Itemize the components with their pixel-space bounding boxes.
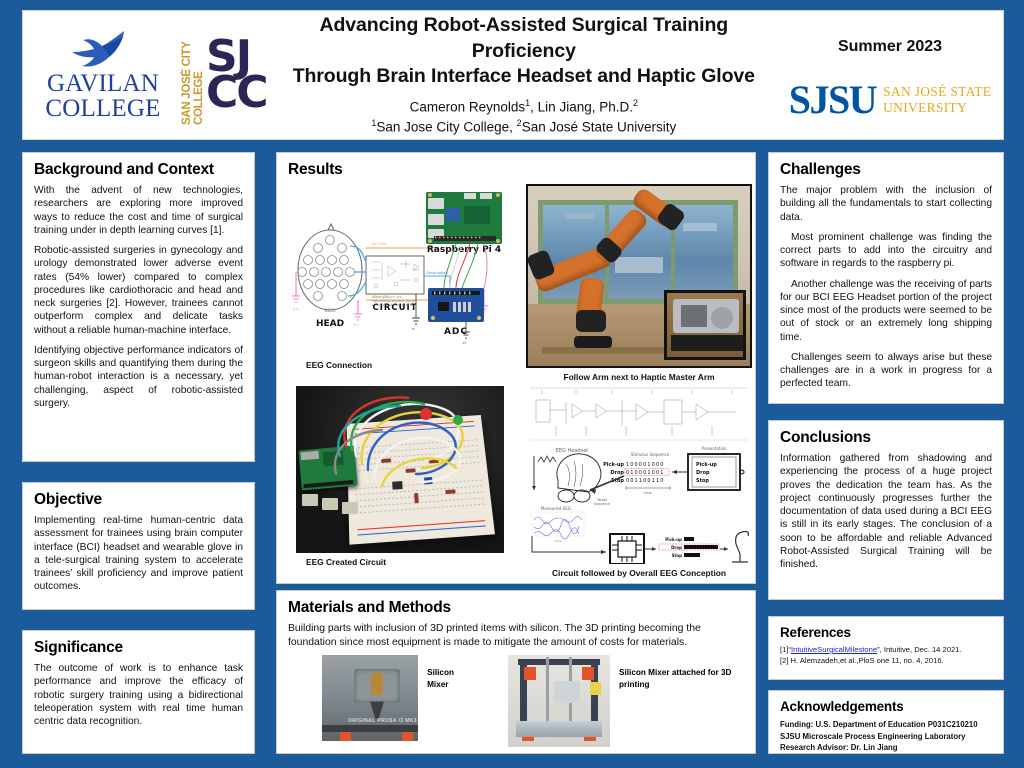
acknowledgement-line-3: Research Advisor: Dr. Lin Jiang [780, 742, 992, 754]
background-heading: Background and Context [34, 161, 243, 179]
sjsu-name-lines: SAN JOSÉ STATE UNIVERSITY [883, 84, 991, 115]
objective-paragraph-1: Implementing real-time human-centric dat… [34, 514, 243, 594]
svg-text:Raspberry Pi 4: Raspberry Pi 4 [427, 245, 501, 255]
silicon-mixer-photo: ORIGINAL PRUSA i3 MK3 [322, 655, 418, 741]
term-label: Summer 2023 [838, 38, 942, 56]
svg-text:amp powered from -5V to 5V: amp powered from -5V to 5V [372, 303, 414, 307]
sjsu-logo: SJSU SAN JOSÉ STATE UNIVERSITY [789, 80, 992, 120]
background-paragraph-2: Robotic-assisted surgeries in gynecology… [34, 244, 243, 337]
svg-text:Pi: Pi [412, 327, 415, 331]
challenges-heading: Challenges [780, 161, 992, 179]
materials-description: Building parts with inclusion of 3D prin… [288, 622, 744, 649]
svg-text:Drop: Drop [671, 545, 682, 550]
reference-item-2: [2] H. Alemzadeh,et al.,PloS one 11, no.… [780, 656, 992, 667]
challenges-panel: Challenges The major problem with the in… [768, 152, 1004, 404]
materials-and-methods-panel: Materials and Methods Building parts wit… [276, 590, 756, 754]
sjcc-vertical-text: SAN JOSÉ CITY COLLEGE [181, 25, 205, 125]
acknowledgement-line-1: Funding: U.S. Department of Education P0… [780, 719, 992, 731]
challenges-paragraph-1: The major problem with the inclusion of … [780, 184, 992, 224]
reference-item-1: [1]“IntuitiveSurgicalMilestone”, Intuiti… [780, 645, 992, 656]
figure-eeg-created-circuit: EEG Created Circuit [288, 386, 516, 578]
materials-figure-row: ORIGINAL PRUSA i3 MK3 Silicon Mixer [288, 655, 744, 747]
affil-text-1: San Jose City College, [376, 120, 516, 135]
significance-panel: Significance The outcome of work is to e… [22, 630, 255, 754]
svg-text:001100110: 001100110 [626, 478, 665, 484]
poster-canvas: GAVILAN COLLEGE SAN JOSÉ CITY COLLEGE SJ… [0, 0, 1024, 768]
figure-silicon-mixer-printer: Silicon Mixer attached for 3D printing [508, 655, 744, 747]
svg-text:NECK: NECK [325, 308, 336, 313]
conclusions-paragraph-1: Information gathered from shadowing and … [780, 452, 992, 571]
poster-title: Advancing Robot-Assisted Surgical Traini… [277, 13, 771, 90]
figure-caption-eeg-created-circuit: EEG Created Circuit [306, 557, 516, 567]
significance-heading: Significance [34, 639, 243, 657]
figure-follow-arm: Follow Arm next to Haptic Master Arm [526, 184, 752, 382]
silicon-mixer-3d-printer-photo [508, 655, 610, 747]
sjcc-monogram: SJ CC [206, 39, 267, 111]
sjsu-wordmark: SJSU [789, 80, 876, 120]
affil-text-2: San José State University [522, 120, 677, 135]
acknowledgement-line-2: SJSU Microscale Process Engineering Labo… [780, 731, 992, 743]
svg-text:Sequence: Sequence [594, 502, 610, 506]
results-heading: Results [288, 161, 744, 179]
reference-1-link[interactable]: IntuitiveSurgicalMilestone [791, 645, 877, 654]
reference-1-prefix: [1]“ [780, 645, 791, 654]
acknowledgements-panel: Acknowledgements Funding: U.S. Departmen… [768, 690, 1004, 754]
references-heading: References [780, 625, 992, 640]
svg-text:0 V: 0 V [354, 323, 360, 327]
figure-caption-silicon-mixer: Silicon Mixer [427, 655, 470, 689]
background-paragraph-3: Identifying objective performance indica… [34, 344, 243, 410]
figure-caption-eeg-connection: EEG Connection [306, 360, 516, 370]
overall-eeg-conception-diagram: EEG Headset Stimulus Sequence Pick-up 10… [526, 386, 752, 564]
header-right-block: Summer 2023 SJSU SAN JOSÉ STATE UNIVERSI… [777, 20, 1003, 130]
svg-text:Stop: Stop [696, 478, 709, 484]
label-drop: Drop [610, 470, 624, 476]
figure-caption-silicon-mixer-printer: Silicon Mixer attached for 3D printing [619, 655, 744, 689]
gavilan-word-1: GAVILAN [47, 71, 159, 96]
conclusions-heading: Conclusions [780, 429, 992, 447]
results-panel: Results NECK HEAD [276, 152, 756, 584]
materials-heading: Materials and Methods [288, 599, 744, 617]
svg-text:010001001: 010001001 [626, 470, 665, 476]
background-and-context-panel: Background and Context With the advent o… [22, 152, 255, 462]
references-panel: References [1]“IntuitiveSurgicalMileston… [768, 616, 1004, 680]
svg-text:Pi: Pi [463, 341, 466, 345]
results-figure-grid: NECK HEAD CIRCUIT Circuit ground = 0 V, … [288, 184, 744, 578]
svg-text:5V~15V: 5V~15V [372, 242, 387, 246]
poster-header: GAVILAN COLLEGE SAN JOSÉ CITY COLLEGE SJ… [22, 10, 1004, 140]
svg-text:Drop: Drop [696, 470, 710, 476]
author-sup-2: 2 [633, 98, 638, 108]
gavilan-college-logo: GAVILAN COLLEGE [39, 29, 167, 121]
svg-text:Pick-up: Pick-up [696, 462, 717, 468]
svg-text:Stop: Stop [672, 553, 683, 558]
svg-text:HEAD: HEAD [316, 319, 344, 329]
challenges-paragraph-3: Another challenge was the receiving of p… [780, 278, 992, 344]
haptic-master-arm-inset [664, 290, 746, 360]
jumper-wires [296, 386, 504, 553]
svg-text:time: time [555, 539, 562, 543]
label-eeg-headset: EEG Headset [556, 448, 589, 454]
sjcc-logo: SAN JOSÉ CITY COLLEGE SJ CC [181, 23, 267, 127]
affiliation-list: 1San Jose City College, 2San José State … [277, 117, 771, 137]
sjsu-name-line-2: UNIVERSITY [883, 100, 991, 116]
svg-text:0 V: 0 V [293, 307, 299, 311]
author-names-pre: Cameron Reynolds [410, 100, 526, 115]
figure-silicon-mixer: ORIGINAL PRUSA i3 MK3 Silicon Mixer [322, 655, 470, 741]
svg-text:100001000: 100001000 [626, 462, 665, 468]
gavilan-bird-icon [66, 29, 140, 71]
label-measured-eeg: Measured EEG [541, 506, 571, 511]
figure-caption-follow-arm: Follow Arm next to Haptic Master Arm [526, 372, 752, 382]
poster-title-line-2: Through Brain Interface Headset and Hapt… [277, 64, 771, 90]
figure-overall-eeg-conception: EEG Headset Stimulus Sequence Pick-up 10… [526, 386, 752, 578]
eeg-connection-schematic: NECK HEAD CIRCUIT Circuit ground = 0 V, … [288, 184, 516, 356]
svg-text:-5V~-15V: -5V~-15V [372, 295, 389, 299]
label-pickup: Pick-up [603, 462, 624, 468]
follow-arm-photo [526, 184, 752, 368]
significance-paragraph-1: The outcome of work is to enhance task p… [34, 662, 243, 728]
objective-panel: Objective Implementing real-time human-c… [22, 482, 255, 610]
figure-caption-overall-eeg-conception: Circuit followed by Overall EEG Concepti… [526, 568, 752, 578]
reference-1-suffix: ”, Intuitive, Dec. 14 2021. [877, 645, 961, 654]
gavilan-word-2: COLLEGE [45, 96, 160, 121]
figure-eeg-connection: NECK HEAD CIRCUIT Circuit ground = 0 V, … [288, 184, 516, 382]
author-names-mid: , Lin Jiang, Ph.D. [530, 100, 633, 115]
sjcc-monogram-line2: CC [206, 75, 267, 111]
sjsu-name-line-1: SAN JOSÉ STATE [883, 84, 991, 100]
label-stimulus-sequence: Stimulus Sequence [631, 452, 670, 457]
svg-text:time: time [644, 491, 651, 495]
challenges-paragraph-4: Challenges seem to always arise but thes… [780, 351, 992, 391]
label-presentation: Presentation [701, 446, 727, 451]
title-block: Advancing Robot-Assisted Surgical Traini… [267, 13, 777, 137]
eeg-created-circuit-photo [296, 386, 504, 553]
background-paragraph-1: With the advent of new technologies, res… [34, 184, 243, 237]
objective-heading: Objective [34, 491, 243, 509]
challenges-paragraph-2: Most prominent challenge was finding the… [780, 231, 992, 271]
author-list: Cameron Reynolds1, Lin Jiang, Ph.D.2 [277, 97, 771, 117]
svg-text:Pick-up: Pick-up [665, 537, 682, 542]
conclusions-panel: Conclusions Information gathered from sh… [768, 420, 1004, 600]
svg-text:Circuit output: Circuit output [426, 271, 449, 275]
poster-title-line-1: Advancing Robot-Assisted Surgical Traini… [277, 13, 771, 64]
acknowledgements-heading: Acknowledgements [780, 699, 992, 714]
